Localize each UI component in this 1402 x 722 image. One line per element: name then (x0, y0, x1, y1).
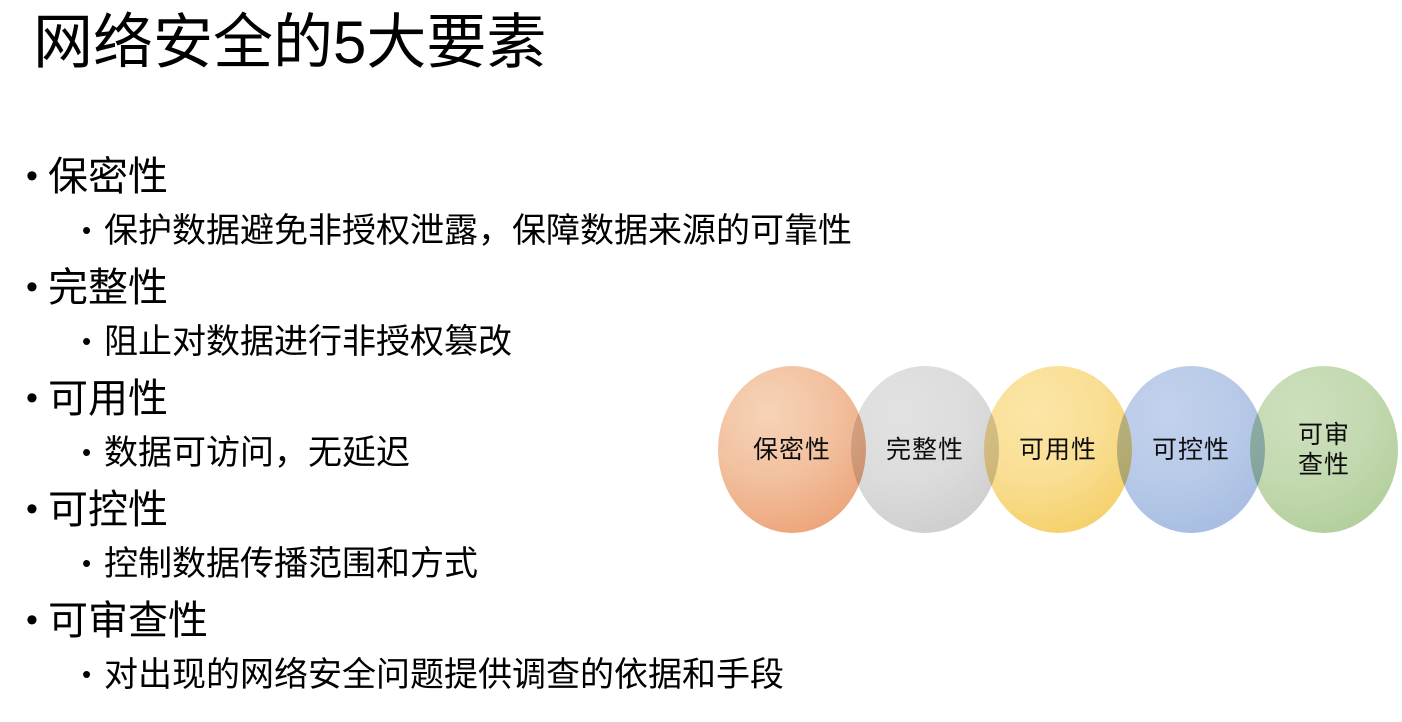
venn-circle-integrity: 完整性 (851, 366, 999, 533)
sub-bullet-label: 数据可访问，无延迟 (104, 430, 410, 476)
bullet-group-4: • 可审查性 • 对出现的网络安全问题提供调查的依据和手段 (0, 596, 1050, 707)
venn-circle-availability: 可用性 (984, 366, 1132, 533)
bullet-dot-icon: • (26, 374, 48, 422)
bullet-dot-icon: • (26, 152, 48, 200)
bullet-dot-icon: • (26, 263, 48, 311)
bullet-label: 可审查性 (48, 596, 208, 646)
bullet-label: 可控性 (48, 485, 168, 535)
page-title: 网络安全的5大要素 (33, 8, 546, 79)
venn-circle-label: 完整性 (879, 435, 971, 465)
bullet-item-integrity: • 完整性 (0, 263, 1050, 319)
venn-circle-label: 可用性 (1012, 435, 1104, 465)
bullet-item-confidentiality: • 保密性 (0, 152, 1050, 208)
bullet-dot-icon: • (26, 485, 48, 533)
bullet-label: 完整性 (48, 263, 168, 313)
sub-bullet-item-auditability: • 对出现的网络安全问题提供调查的依据和手段 (0, 652, 1050, 707)
venn-circle-auditability: 可审查性 (1250, 366, 1398, 533)
bullet-group-0: • 保密性 • 保护数据避免非授权泄露，保障数据来源的可靠性 (0, 152, 1050, 263)
sub-bullet-dot-icon: • (82, 541, 104, 585)
bullet-item-auditability: • 可审查性 (0, 596, 1050, 652)
sub-bullet-dot-icon: • (82, 319, 104, 363)
bullet-label: 可用性 (48, 374, 168, 424)
sub-bullet-dot-icon: • (82, 430, 104, 474)
bullet-dot-icon: • (26, 596, 48, 644)
sub-bullet-label: 保护数据避免非授权泄露，保障数据来源的可靠性 (104, 208, 852, 254)
venn-circle-confidentiality: 保密性 (718, 366, 866, 533)
sub-bullet-dot-icon: • (82, 652, 104, 696)
bullet-group-1: • 完整性 • 阻止对数据进行非授权篡改 (0, 263, 1050, 374)
sub-bullet-label: 阻止对数据进行非授权篡改 (104, 319, 512, 365)
sub-bullet-label: 对出现的网络安全问题提供调查的依据和手段 (104, 652, 784, 698)
bullet-label: 保密性 (48, 152, 168, 202)
venn-circle-label: 保密性 (746, 435, 838, 465)
sub-bullet-item-confidentiality: • 保护数据避免非授权泄露，保障数据来源的可靠性 (0, 208, 1050, 263)
sub-bullet-item-controllability: • 控制数据传播范围和方式 (0, 541, 1050, 596)
venn-diagram: 保密性 完整性 可用性 可控性 可审查性 (714, 362, 1402, 540)
venn-circle-label: 可审查性 (1286, 420, 1362, 480)
venn-circle-label: 可控性 (1145, 435, 1237, 465)
sub-bullet-dot-icon: • (82, 208, 104, 252)
venn-circle-controllability: 可控性 (1117, 366, 1265, 533)
sub-bullet-label: 控制数据传播范围和方式 (104, 541, 478, 587)
